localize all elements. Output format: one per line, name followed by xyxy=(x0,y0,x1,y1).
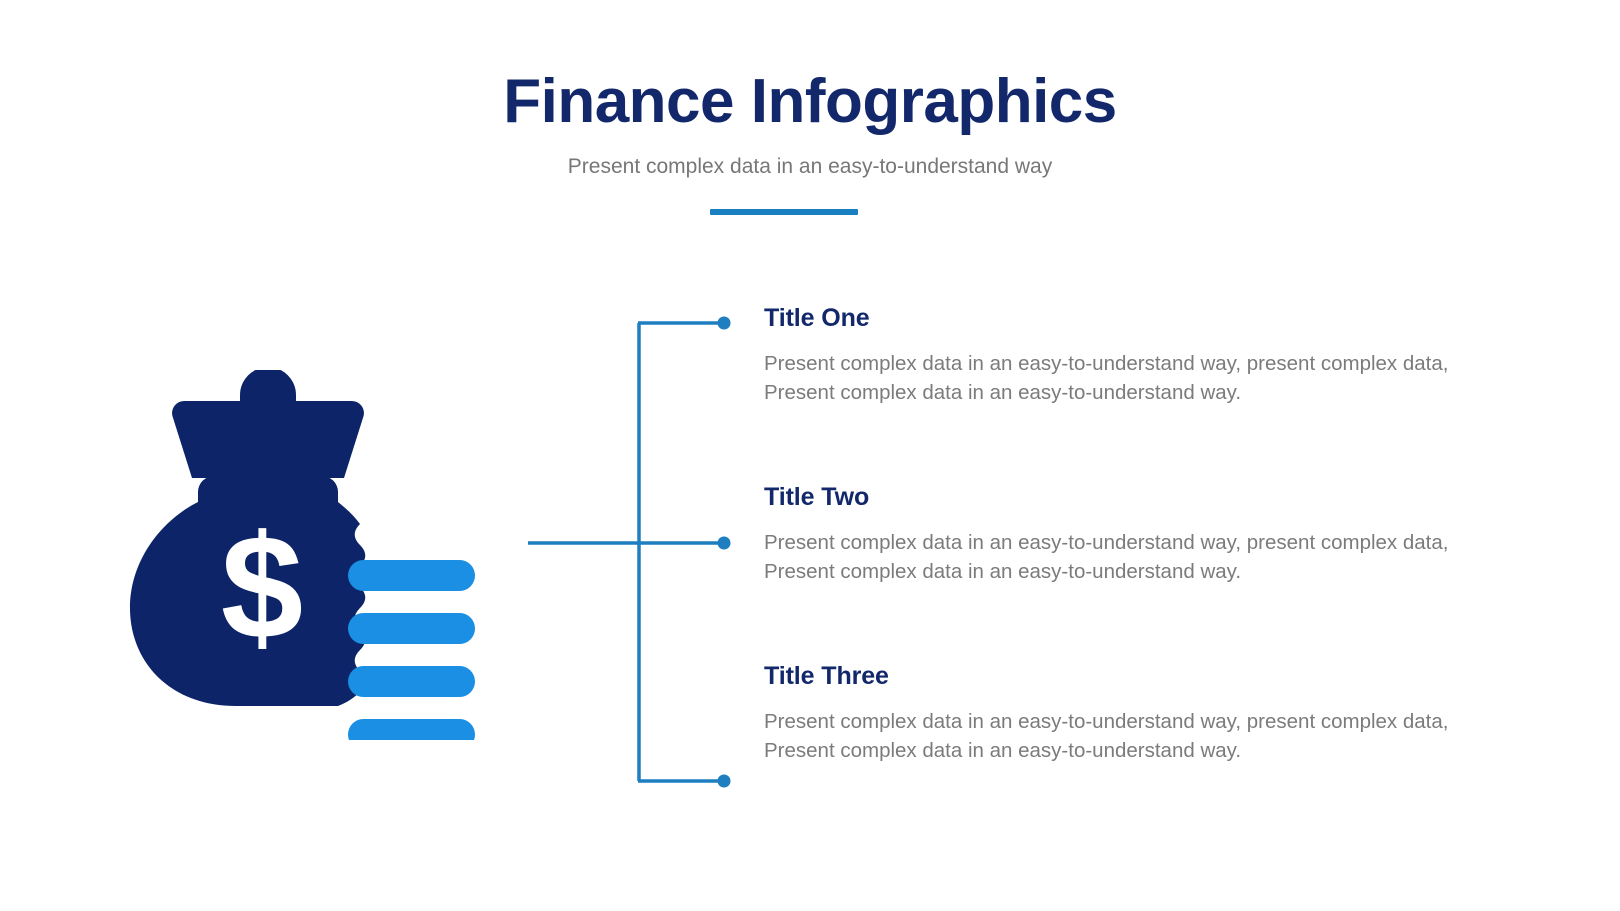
page-subtitle: Present complex data in an easy-to-under… xyxy=(0,137,1620,180)
item-title-three: Title Three xyxy=(764,660,1454,693)
item-title-two: Title Two xyxy=(764,481,1454,514)
content-item-two: Title Two Present complex data in an eas… xyxy=(764,481,1454,587)
dollar-sign-icon: $ xyxy=(221,505,303,670)
header: Finance Infographics Present complex dat… xyxy=(0,0,1620,181)
item-body-three: Present complex data in an easy-to-under… xyxy=(764,693,1454,766)
connector-dot-3 xyxy=(718,775,731,788)
coin-bar-1 xyxy=(348,560,475,591)
connector-dot-1 xyxy=(718,317,731,330)
page-title: Finance Infographics xyxy=(0,0,1620,137)
svg-text:$: $ xyxy=(221,505,303,670)
coin-bar-3 xyxy=(348,666,475,697)
content-item-three: Title Three Present complex data in an e… xyxy=(764,660,1454,766)
item-title-one: Title One xyxy=(764,302,1454,335)
money-bag-illustration: $ xyxy=(118,370,498,740)
item-body-one: Present complex data in an easy-to-under… xyxy=(764,335,1454,408)
title-divider xyxy=(710,209,858,215)
content-item-one: Title One Present complex data in an eas… xyxy=(764,302,1454,408)
money-bag-knot-icon xyxy=(172,370,364,478)
connector-lines xyxy=(500,300,760,800)
coin-stack-icon xyxy=(348,560,475,740)
coin-bar-4 xyxy=(348,719,475,740)
coin-bar-2 xyxy=(348,613,475,644)
connector-dot-2 xyxy=(718,537,731,550)
item-body-two: Present complex data in an easy-to-under… xyxy=(764,514,1454,587)
